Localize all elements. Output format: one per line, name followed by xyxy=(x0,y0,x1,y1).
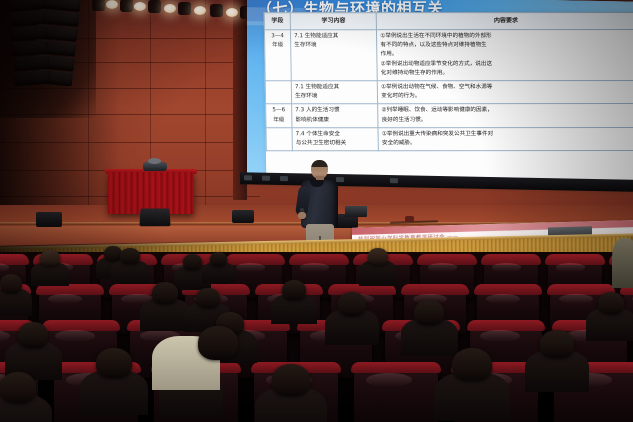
wall-joint xyxy=(205,0,206,235)
cell-grade: 3—4年级 xyxy=(264,30,291,81)
wall-edge-panel xyxy=(233,0,247,200)
audience-member-head xyxy=(0,274,22,293)
audience-member-head xyxy=(368,248,388,265)
table-row: 7.1 生物能适应其生存环境①举例说出动物在气候、食物、空气和水源等变化时的行为… xyxy=(265,80,633,104)
slide-content-table: 学段 学习内容 内容要求 3—4年级7.1 生物能适应其生存环境①举例说出生活在… xyxy=(264,12,633,182)
audience-member-head xyxy=(183,254,202,270)
audience-member-head xyxy=(96,348,132,378)
audience-member-head xyxy=(598,292,624,314)
laptop-on-stage xyxy=(345,206,367,217)
audience-member-standing-right xyxy=(612,238,633,288)
audience-member-head xyxy=(452,348,492,381)
floor-wedge-speaker xyxy=(232,210,254,223)
equipment-top xyxy=(148,158,161,164)
audience-member-head xyxy=(18,322,48,348)
table-row: 5—6年级7.3 人的生活习惯影响机体健康②列举睡眠、饮食、运动等影响健康的因素… xyxy=(266,104,633,128)
cell-learning-content: 7.4 个体生命安全与公共卫生密切相关 xyxy=(292,128,379,152)
auditorium-seat xyxy=(354,366,438,422)
cell-content-requirements: ①举例说出动物在气候、食物、空气和水源等变化时的行为。 xyxy=(378,80,633,104)
floor-wedge-speaker xyxy=(36,212,62,227)
audience-member-head xyxy=(120,248,140,264)
projection-screen: （七）生物与环境的相互关 学段 学习内容 内容要求 3—4年级7.1 生物能适应… xyxy=(247,0,633,186)
presenter-hand xyxy=(298,212,306,219)
col-header-content: 学习内容 xyxy=(290,13,376,30)
wall-shadow xyxy=(0,0,120,240)
audience-member-head xyxy=(210,252,227,266)
stage-light xyxy=(194,6,206,15)
stage-monitor-speaker xyxy=(139,208,170,226)
audience-member-head xyxy=(198,326,238,360)
stage-light xyxy=(134,2,146,11)
table-row: 3—4年级7.1 生物能适应其生存环境①举例说出生活在不同环境中的植物的外部形有… xyxy=(264,29,633,80)
cell-content-requirements: ②列举睡眠、饮食、运动等影响健康的因素，良好的生活习惯。 xyxy=(378,104,633,128)
stage-light xyxy=(164,4,176,13)
table-header-row: 学段 学习内容 内容要求 xyxy=(264,12,633,29)
audience-member-head xyxy=(338,292,366,316)
cell-content-requirements: ①举例说出重大传染病和突发公共卫生事件对安全的威胁。 xyxy=(378,127,633,151)
cell-grade xyxy=(265,81,291,104)
col-header-grade: 学段 xyxy=(264,13,290,30)
cell-learning-content: 7.1 生物能适应其生存环境 xyxy=(291,30,378,81)
stage-light xyxy=(226,8,238,17)
stage-small-object xyxy=(405,216,414,222)
audience-member-head xyxy=(196,288,220,308)
audience-member-head xyxy=(414,300,444,325)
cell-content-requirements: ①举例说出生活在不同环境中的植物的外部形有不同的特点，以及这些特点对维持植物生作… xyxy=(377,29,633,80)
col-header-requirements: 内容要求 xyxy=(376,12,633,29)
table-row: 7.4 个体生命安全与公共卫生密切相关①举例说出重大传染病和突发公共卫生事件对安… xyxy=(266,127,633,151)
cell-learning-content: 7.1 生物能适应其生存环境 xyxy=(291,81,378,105)
audience-member-head xyxy=(540,330,574,358)
auditorium-scene: （七）生物与环境的相互关 学段 学习内容 内容要求 3—4年级7.1 生物能适应… xyxy=(0,0,633,422)
audience-member-head xyxy=(152,282,178,304)
audience-member-head xyxy=(0,372,36,403)
cell-grade xyxy=(266,128,292,151)
cell-grade: 5—6年级 xyxy=(266,104,292,127)
audience-member-head xyxy=(40,250,60,266)
audience-member-head xyxy=(272,364,310,396)
cell-learning-content: 7.3 人的生活习惯影响机体健康 xyxy=(292,104,379,128)
audience-member-head xyxy=(282,280,306,300)
